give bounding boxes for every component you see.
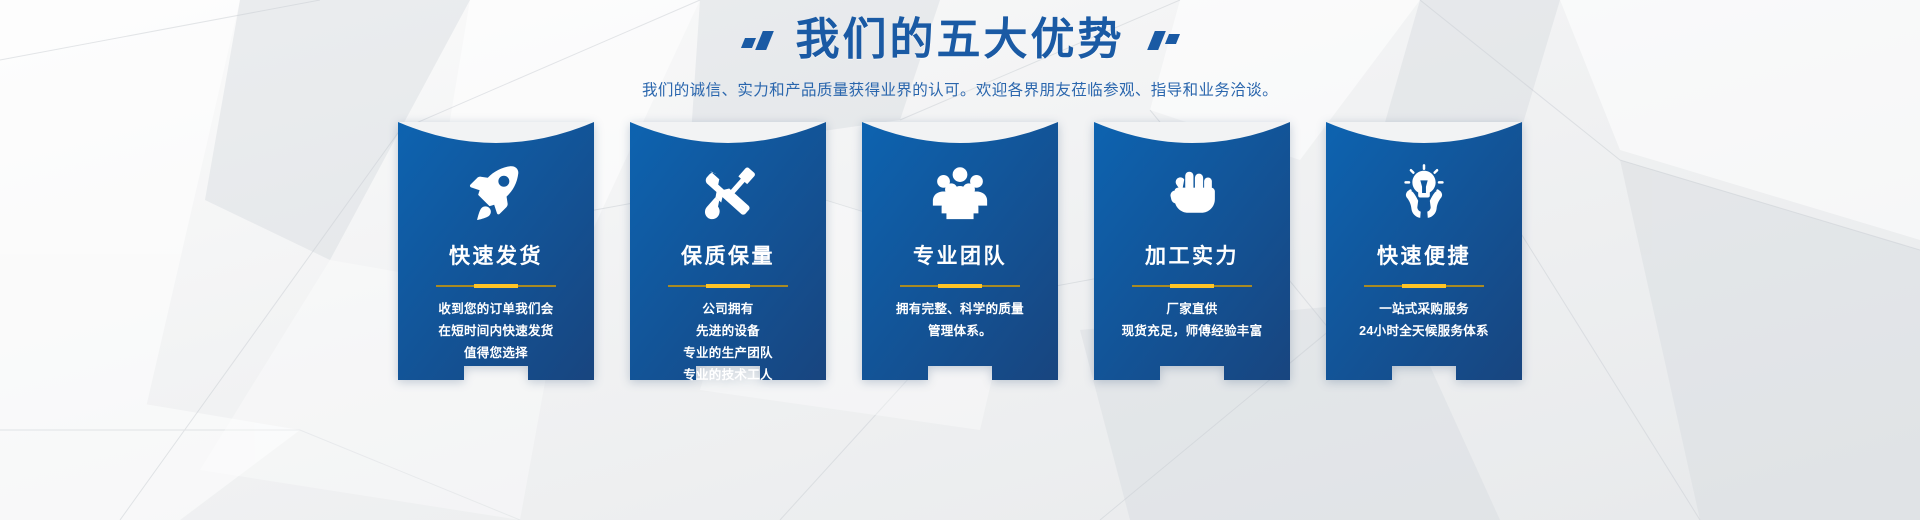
card-description: 公司拥有 先进的设备 专业的生产团队 专业的技术工人 (675, 299, 781, 387)
advantage-card[interactable]: 快速便捷 一站式采购服务 24小时全天候服务体系 (1326, 122, 1522, 380)
section-header: 我们的五大优势 我们的诚信、实力和产品质量获得业界的认可。欢迎各界朋友莅临参观、… (0, 0, 1920, 100)
slash-marks-left-icon (743, 31, 770, 50)
card-description-line: 专业的技术工人 (683, 365, 773, 387)
card-description: 厂家直供 现货充足，师傅经验丰富 (1114, 299, 1271, 343)
card-title: 加工实力 (1145, 240, 1239, 270)
card-title: 快速发货 (449, 240, 543, 270)
card-title: 快速便捷 (1377, 240, 1471, 270)
card-description-line: 先进的设备 (683, 321, 773, 343)
card-description-line: 值得您选择 (438, 343, 553, 365)
card-description-line: 收到您的订单我们会 (438, 299, 553, 321)
card-description: 收到您的订单我们会 在短时间内快速发货 值得您选择 (430, 299, 561, 365)
card-description-line: 在短时间内快速发货 (438, 321, 553, 343)
card-title: 专业团队 (913, 240, 1007, 270)
rocket-icon (465, 162, 527, 224)
advantage-card[interactable]: 快速发货 收到您的订单我们会 在短时间内快速发货 值得您选择 (398, 122, 594, 380)
card-description-line: 专业的生产团队 (683, 343, 773, 365)
title-row: 我们的五大优势 (0, 16, 1920, 64)
gold-divider (900, 284, 1020, 288)
gold-divider (436, 284, 556, 288)
page-title: 我们的五大优势 (796, 16, 1125, 64)
gold-divider (668, 284, 788, 288)
advantage-card[interactable]: 保质保量 公司拥有 先进的设备 专业的生产团队 专业的技术工人 (630, 122, 826, 380)
fist-icon (1161, 162, 1223, 224)
advantage-card[interactable]: 加工实力 厂家直供 现货充足，师傅经验丰富 (1094, 122, 1290, 380)
card-description-line: 公司拥有 (683, 299, 773, 321)
gold-divider (1364, 284, 1484, 288)
page-subtitle: 我们的诚信、实力和产品质量获得业界的认可。欢迎各界朋友莅临参观、指导和业务洽谈。 (0, 78, 1920, 100)
slash-marks-right-icon (1151, 31, 1178, 50)
team-people-icon (929, 162, 991, 224)
card-description-line: 现货充足，师傅经验丰富 (1122, 321, 1263, 343)
card-description: 拥有完整、科学的质量 管理体系。 (888, 299, 1032, 343)
card-description: 一站式采购服务 24小时全天候服务体系 (1351, 299, 1497, 343)
advantage-card-list: 快速发货 收到您的订单我们会 在短时间内快速发货 值得您选择 (0, 122, 1920, 380)
gold-divider (1132, 284, 1252, 288)
card-description-line: 拥有完整、科学的质量 (896, 299, 1024, 321)
lightbulb-in-hands-icon (1393, 162, 1455, 224)
card-description-line: 厂家直供 (1122, 299, 1263, 321)
card-description-line: 管理体系。 (896, 321, 1024, 343)
wrench-screwdriver-icon (697, 162, 759, 224)
card-title: 保质保量 (681, 240, 775, 270)
card-description-line: 24小时全天候服务体系 (1359, 321, 1489, 343)
advantage-card[interactable]: 专业团队 拥有完整、科学的质量 管理体系。 (862, 122, 1058, 380)
card-description-line: 一站式采购服务 (1359, 299, 1489, 321)
